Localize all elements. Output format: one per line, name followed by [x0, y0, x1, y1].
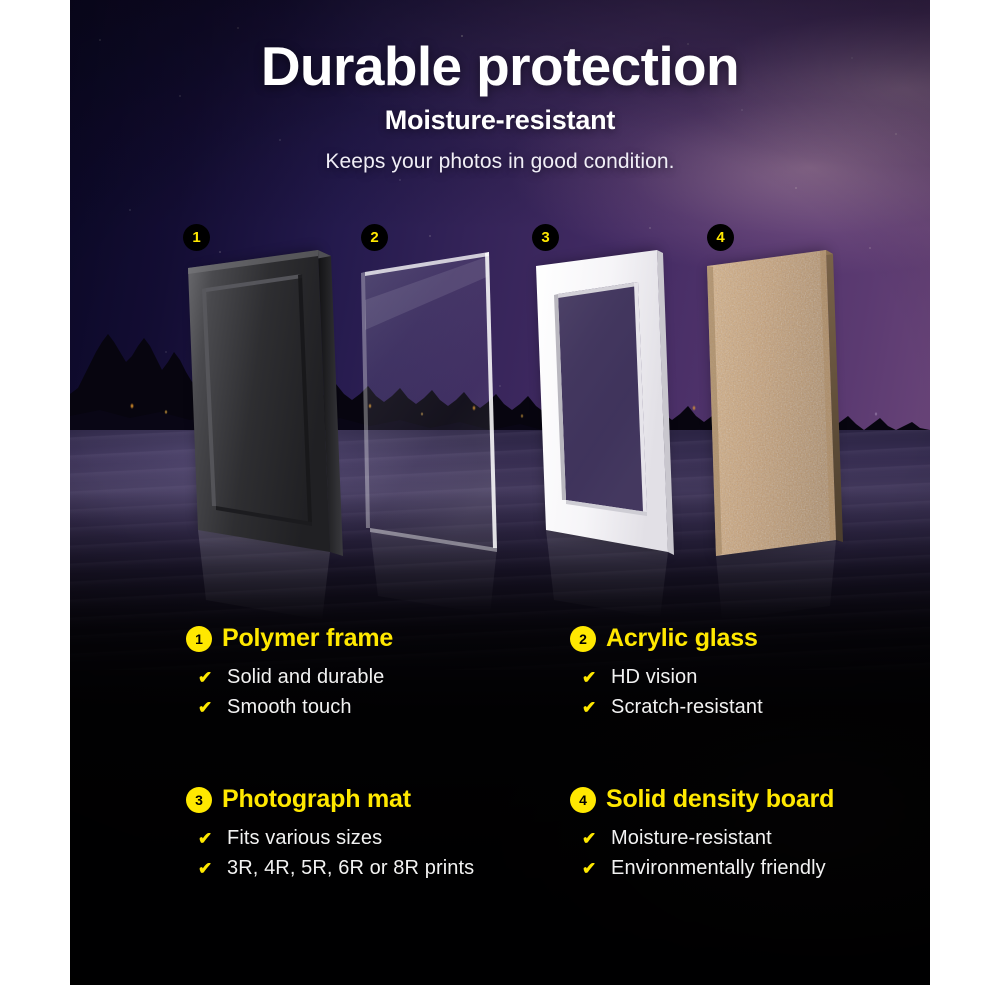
feature-title: Acrylic glass — [606, 624, 758, 653]
feature-bullets: ✔ Fits various sizes ✔ 3R, 4R, 5R, 6R or… — [186, 827, 576, 880]
feature-number-badge: 3 — [186, 787, 212, 813]
list-item: ✔ Smooth touch — [198, 696, 576, 719]
product-infographic-poster: Durable protection Moisture-resistant Ke… — [0, 0, 1000, 1000]
check-icon: ✔ — [198, 699, 214, 716]
check-icon: ✔ — [198, 669, 214, 686]
bullet-text: Solid and durable — [227, 666, 384, 689]
list-item: ✔ Solid and durable — [198, 666, 576, 689]
header-block: Durable protection Moisture-resistant Ke… — [0, 38, 1000, 174]
feature-number-badge: 2 — [570, 626, 596, 652]
feature-bullets: ✔ Moisture-resistant ✔ Environmentally f… — [570, 827, 960, 880]
feature-heading: 4 Solid density board — [570, 785, 960, 814]
list-item: ✔ Scratch-resistant — [582, 696, 960, 719]
bullet-text: Moisture-resistant — [611, 827, 772, 850]
feature-block-solid-density-board: 4 Solid density board ✔ Moisture-resista… — [570, 785, 960, 887]
feature-heading: 1 Polymer frame — [186, 624, 576, 653]
list-item: ✔ Moisture-resistant — [582, 827, 960, 850]
feature-bullets: ✔ HD vision ✔ Scratch-resistant — [570, 666, 960, 719]
feature-bullets: ✔ Solid and durable ✔ Smooth touch — [186, 666, 576, 719]
feature-block-photograph-mat: 3 Photograph mat ✔ Fits various sizes ✔ … — [186, 785, 576, 887]
check-icon: ✔ — [198, 860, 214, 877]
list-item: ✔ 3R, 4R, 5R, 6R or 8R prints — [198, 857, 576, 880]
list-item: ✔ HD vision — [582, 666, 960, 689]
check-icon: ✔ — [582, 830, 598, 847]
feature-block-acrylic-glass: 2 Acrylic glass ✔ HD vision ✔ Scratch-re… — [570, 624, 960, 726]
feature-number-badge: 1 — [186, 626, 212, 652]
check-icon: ✔ — [582, 860, 598, 877]
feature-title: Photograph mat — [222, 785, 411, 814]
check-icon: ✔ — [582, 669, 598, 686]
feature-title: Polymer frame — [222, 624, 393, 653]
bullet-text: Fits various sizes — [227, 827, 382, 850]
bullet-text: Smooth touch — [227, 696, 352, 719]
bullet-text: Environmentally friendly — [611, 857, 826, 880]
feature-number-badge: 4 — [570, 787, 596, 813]
check-icon: ✔ — [582, 699, 598, 716]
feature-heading: 2 Acrylic glass — [570, 624, 960, 653]
feature-heading: 3 Photograph mat — [186, 785, 576, 814]
list-item: ✔ Environmentally friendly — [582, 857, 960, 880]
bullet-text: Scratch-resistant — [611, 696, 763, 719]
feature-block-polymer-frame: 1 Polymer frame ✔ Solid and durable ✔ Sm… — [186, 624, 576, 726]
page-tagline: Keeps your photos in good condition. — [0, 150, 1000, 174]
page-subtitle: Moisture-resistant — [0, 105, 1000, 136]
page-title: Durable protection — [0, 38, 1000, 96]
bullet-text: HD vision — [611, 666, 697, 689]
list-item: ✔ Fits various sizes — [198, 827, 576, 850]
check-icon: ✔ — [198, 830, 214, 847]
feature-title: Solid density board — [606, 785, 834, 814]
bullet-text: 3R, 4R, 5R, 6R or 8R prints — [227, 857, 474, 880]
